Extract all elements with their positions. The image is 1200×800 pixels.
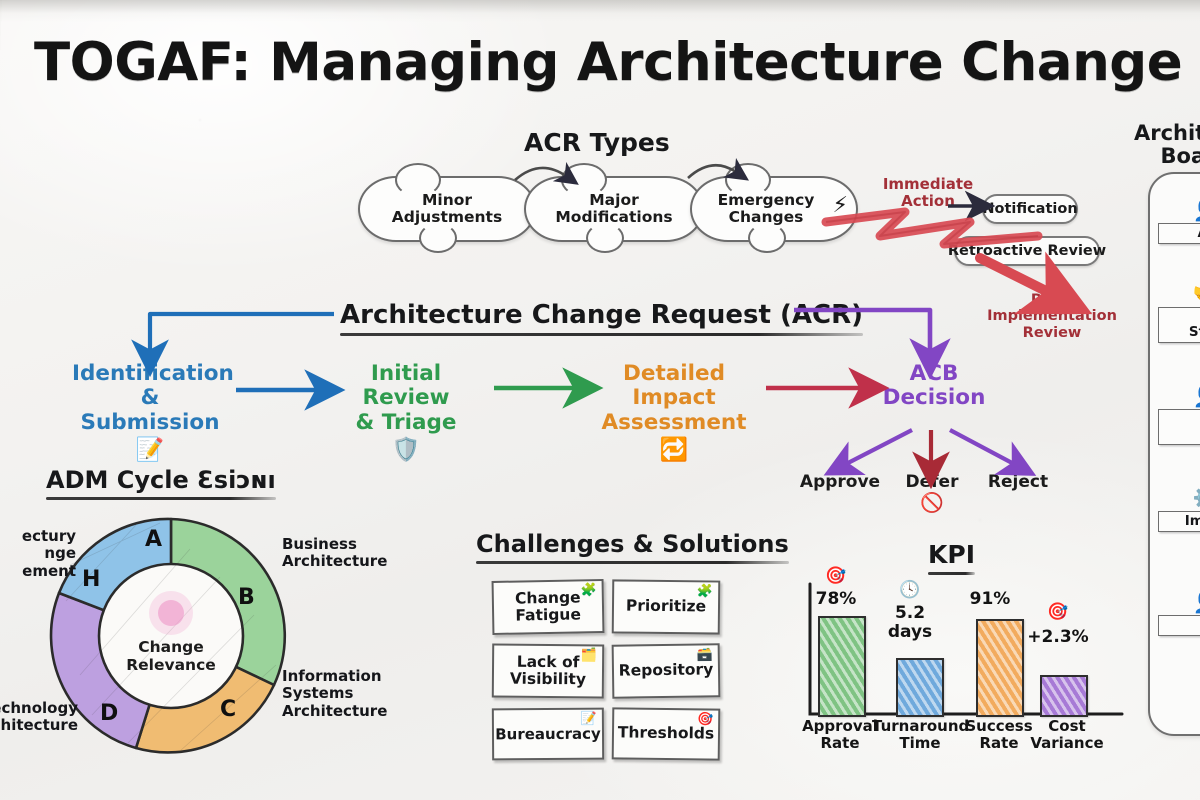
stage-line2: & Submission <box>81 385 220 434</box>
puzzle-piece-icon: 🧩 <box>697 585 713 598</box>
arch-board-member-label: S O <box>1158 409 1200 445</box>
stage-line1: ACB <box>910 361 959 386</box>
arch-board-member-label: Imple <box>1158 511 1200 532</box>
arch-board-panel[interactable]: 👤 Ar 🤝 B Stak 👤 S O ⚙️ Imple 👤 F <box>1148 172 1200 736</box>
kpi-value-approval-rate: 78% <box>802 590 870 609</box>
notification-pill[interactable]: Notification <box>982 194 1078 224</box>
person-icon: 👤 <box>1158 200 1200 221</box>
arch-board-member-architect[interactable]: 👤 Ar <box>1158 200 1200 244</box>
page-title: TOGAF: Managing Architecture Change Requ… <box>34 36 1194 89</box>
file-box-icon: 🗃️ <box>697 648 713 661</box>
puzzle-piece-icon: 🧩 <box>580 584 596 597</box>
gear-icon: ⚙️ <box>1158 488 1200 509</box>
challenge-card-prioritize[interactable]: Prioritize 🧩 <box>612 579 721 634</box>
adm-segment-letter-d: D <box>100 701 118 726</box>
flow-stage-initial-review[interactable]: Initial Review & Triage 🛡️ <box>330 362 482 462</box>
no-entry-icon: 🚫 <box>892 494 972 513</box>
acr-type-cloud-minor[interactable]: Minor Adjustments <box>358 176 536 242</box>
arch-board-heading: Architect Boar <box>1128 122 1200 168</box>
cloud-line2: Adjustments <box>392 208 502 226</box>
shield-icon: 🛡️ <box>330 439 482 462</box>
arch-board-member-final[interactable]: 👤 F <box>1158 592 1200 636</box>
stage-line2: & Triage <box>356 410 457 435</box>
cloud-line2: Changes <box>729 208 804 226</box>
arch-board-member-label: F <box>1158 615 1200 636</box>
adm-label-business-architecture: Business Architecture <box>282 536 392 571</box>
adm-segment-letter-c: C <box>220 697 236 722</box>
adm-segment-letter-b: B <box>238 585 255 610</box>
adm-label-technology-architecture: echnology chitecture <box>0 700 78 735</box>
retroactive-review-label: Retroactive Review <box>948 243 1106 259</box>
repeat-cycle-icon: 🔁 <box>588 439 760 462</box>
cloud-line2: Modifications <box>555 208 672 226</box>
cloud-line1: Emergency <box>718 191 815 209</box>
handshake-icon: 🤝 <box>1158 284 1200 305</box>
target-icon: 🎯 <box>1028 604 1088 621</box>
retroactive-review-pill[interactable]: Retroactive Review <box>954 236 1100 266</box>
adm-cycle-heading: ADM Cycle Ɛsiɔɴı <box>46 466 276 500</box>
immediate-action-label: Immediate Action <box>882 176 974 210</box>
adm-label-information-systems-architecture: Information Systems Architecture <box>282 668 394 720</box>
challenge-card-change-fatigue[interactable]: Change Fatigue 🧩 <box>492 579 605 635</box>
arch-board-member-implementation[interactable]: ⚙️ Imple <box>1158 488 1200 532</box>
kpi-bar-success-rate <box>976 619 1024 717</box>
arch-board-member-label: Ar <box>1158 223 1200 244</box>
decision-approve[interactable]: Approve <box>788 472 892 492</box>
kpi-bar-chart[interactable]: 🎯 78% ApprovalRate 🕓 5.2days TurnaroundT… <box>796 578 1132 778</box>
flow-heading: Architecture Change Request (ACR) <box>340 300 863 336</box>
notification-label: Notification <box>982 201 1077 217</box>
arch-board-member-solution-owner[interactable]: 👤 S O <box>1158 386 1200 445</box>
kpi-heading: KPI <box>928 540 975 575</box>
memo-pencil-icon: 📝 <box>72 439 228 462</box>
kpi-value-cost-variance: +2.3% <box>1018 628 1098 647</box>
challenge-card-thresholds[interactable]: Thresholds 🎯 <box>612 707 721 760</box>
kpi-value-success-rate: 91% <box>954 590 1026 609</box>
lightning-bolt-icon: ⚡ <box>833 194 848 219</box>
challenge-card-repository[interactable]: Repository 🗃️ <box>612 643 721 699</box>
challenge-card-bureaucracy[interactable]: Bureaucracy 📝 <box>492 708 604 761</box>
cloud-line1: Major <box>589 191 639 209</box>
kpi-value-turnaround-time: 5.2days <box>874 604 946 641</box>
acr-type-cloud-major[interactable]: Major Modifications <box>524 176 704 242</box>
adm-label-architecture-change-management: ectury nge ement <box>0 528 76 580</box>
challenge-card-lack-of-visibility[interactable]: Lack of Visibility 🗂️ <box>492 644 604 699</box>
kpi-bar-turnaround-time <box>896 658 944 717</box>
kpi-bar-approval-rate <box>818 616 866 717</box>
cloud-line1: Minor <box>422 191 472 209</box>
flow-stage-acb-decision[interactable]: ACB Decision <box>878 362 990 411</box>
stage-line1: Detailed Impact <box>623 361 725 410</box>
clock-icon: 🕓 <box>880 582 940 599</box>
arch-board-member-label: B Stak <box>1158 307 1200 343</box>
arch-board-member-business-stakeholders[interactable]: 🤝 B Stak <box>1158 284 1200 343</box>
acr-type-cloud-emergency[interactable]: Emergency Changes ⚡ <box>690 176 858 242</box>
adm-segment-letter-h: H <box>82 567 100 592</box>
adm-cycle-donut[interactable]: A B C D H Change Relevance <box>40 505 302 767</box>
stage-line2: Decision <box>883 385 986 410</box>
flow-stage-impact-assessment[interactable]: Detailed Impact Assessment 🔁 <box>588 362 760 462</box>
person-icon: 👤 <box>1158 386 1200 407</box>
challenges-heading: Challenges & Solutions <box>476 530 789 564</box>
post-implementation-review-label: Post-Implementation Review <box>972 292 1132 341</box>
kpi-bar-cost-variance <box>1040 675 1088 717</box>
target-icon: 🎯 <box>806 568 866 585</box>
kpi-label-cost-variance: CostVariance <box>1028 718 1106 752</box>
stage-line1: Identification <box>72 361 234 386</box>
flow-stage-identification[interactable]: Identification & Submission 📝 <box>72 362 228 462</box>
person-icon: 👤 <box>1158 592 1200 613</box>
kpi-label-turnaround-time: TurnaroundTime <box>872 718 968 752</box>
adm-cycle-center-label: Change Relevance <box>40 639 302 675</box>
stage-line1: Initial Review <box>363 361 450 410</box>
acr-types-heading: ACR Types <box>524 128 670 157</box>
whiteboard-canvas: TOGAF: Managing Architecture Change Requ… <box>0 0 1200 800</box>
decision-reject[interactable]: Reject <box>972 472 1064 492</box>
stage-line2: Assessment <box>602 410 747 435</box>
adm-segment-letter-a: A <box>145 527 162 552</box>
decision-defer[interactable]: Defer 🚫 <box>892 472 972 513</box>
